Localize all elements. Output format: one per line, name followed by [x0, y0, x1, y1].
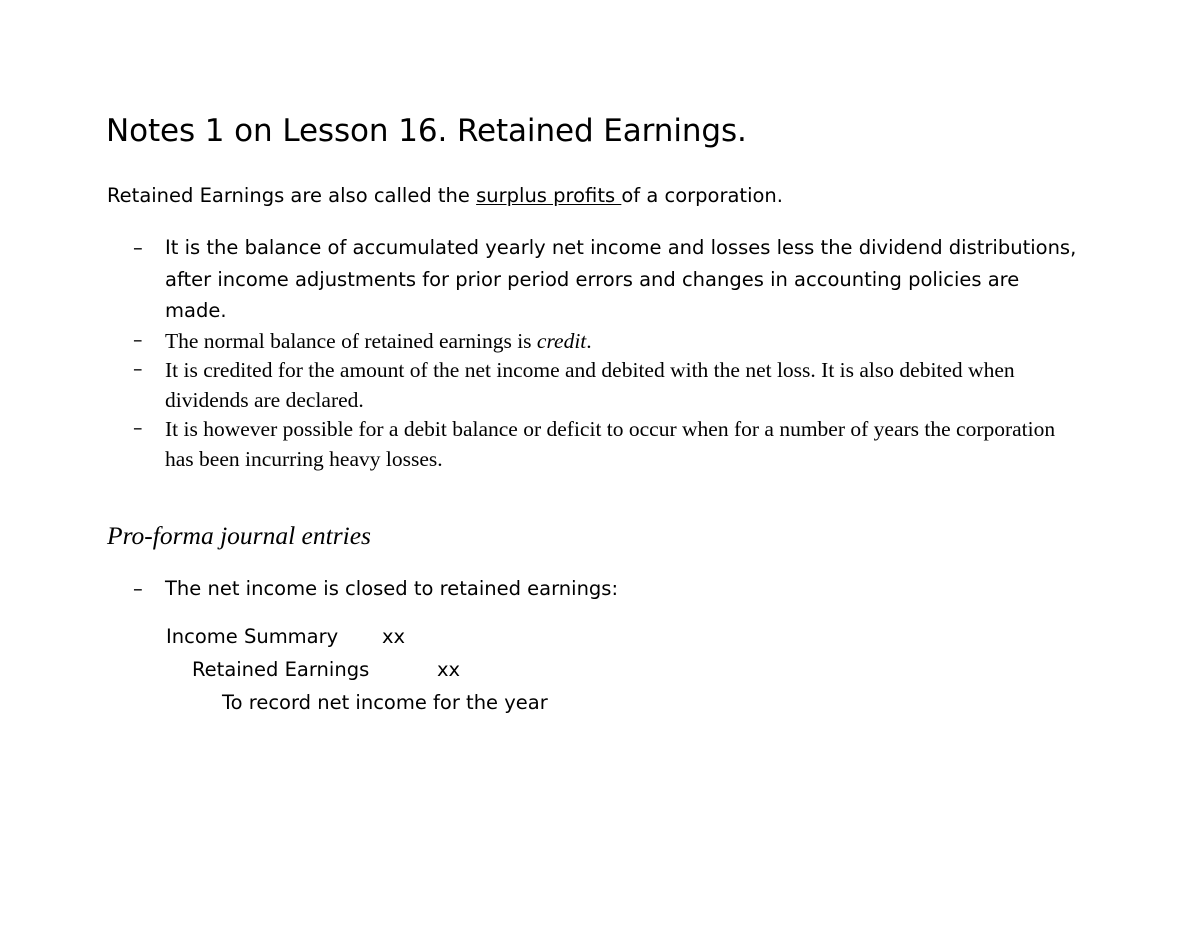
list-item-text: It is credited for the amount of the net…: [165, 358, 1015, 411]
journal-entry-row: To record net income for the year: [166, 687, 548, 720]
list-item: –The net income is closed to retained ea…: [133, 574, 1033, 603]
page-title: Notes 1 on Lesson 16. Retained Earnings.: [106, 114, 1106, 150]
intro-text-after: of a corporation.: [621, 184, 783, 207]
bullet-dash-icon: –: [133, 415, 157, 441]
list-item-text: The net income is closed to retained ear…: [165, 577, 618, 600]
sub-bullet-list: –The net income is closed to retained ea…: [133, 574, 1033, 603]
list-item-emphasis: credit: [537, 329, 586, 353]
slide-canvas: Notes 1 on Lesson 16. Retained Earnings.…: [0, 0, 1200, 927]
intro-paragraph: Retained Earnings are also called the su…: [107, 183, 1087, 208]
intro-underlined-term: surplus profits: [476, 184, 621, 207]
journal-entry-row: Income Summaryxx: [166, 621, 548, 654]
bullet-dash-icon: –: [133, 327, 157, 353]
journal-account-label: Income Summary: [166, 621, 338, 654]
journal-amount-debit: xx: [382, 621, 405, 654]
journal-narration: To record net income for the year: [222, 687, 548, 720]
journal-amount-credit: xx: [437, 654, 460, 687]
list-item: –It is the balance of accumulated yearly…: [133, 232, 1085, 327]
list-item-text-tail: .: [586, 329, 591, 353]
bullet-list: –It is the balance of accumulated yearly…: [133, 232, 1085, 474]
list-item: –The normal balance of retained earnings…: [133, 327, 1085, 356]
list-item: –It is however possible for a debit bala…: [133, 415, 1085, 474]
list-item-text: It is the balance of accumulated yearly …: [165, 236, 1076, 322]
list-item-text: It is however possible for a debit balan…: [165, 417, 1055, 470]
list-item-text: The normal balance of retained earnings …: [165, 329, 537, 353]
intro-text-before: Retained Earnings are also called the: [107, 184, 476, 207]
list-item: –It is credited for the amount of the ne…: [133, 356, 1085, 415]
journal-entry-block: Income Summaryxx Retained Earningsxx To …: [166, 621, 548, 720]
section-heading: Pro-forma journal entries: [107, 521, 371, 552]
bullet-dash-icon: –: [133, 574, 157, 603]
journal-account-label: Retained Earnings: [192, 654, 369, 687]
bullet-dash-icon: –: [133, 356, 157, 382]
bullet-dash-icon: –: [133, 232, 157, 264]
journal-entry-row: Retained Earningsxx: [166, 654, 548, 687]
